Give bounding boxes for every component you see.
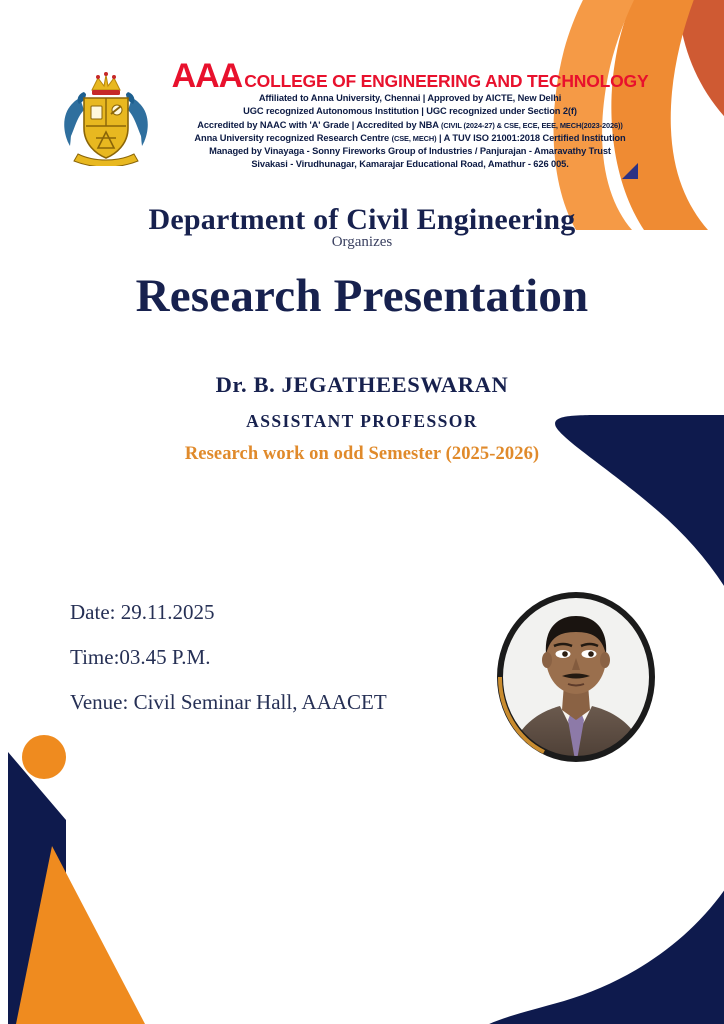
nba-main-text: Accredited by NAAC with 'A' Grade | Accr… xyxy=(197,120,438,130)
event-venue: Venue: Civil Seminar Hall, AAACET xyxy=(70,690,490,715)
managed-by-line: Managed by Vinayaga - Sonny Fireworks Gr… xyxy=(154,145,666,158)
research-centre-text-b: | A TUV ISO 21001:2018 Certified Institu… xyxy=(439,133,626,143)
research-centre-text-a: Anna University recognized Research Cent… xyxy=(194,133,389,143)
accreditation-line-2: UGC recognized Autonomous Institution | … xyxy=(154,105,666,118)
event-title: Research Presentation xyxy=(0,269,724,323)
event-date: Date: 29.11.2025 xyxy=(70,600,490,625)
bottom-left-decoration-group xyxy=(0,724,210,1024)
accreditation-line-nba: Accredited by NAAC with 'A' Grade | Accr… xyxy=(154,119,666,132)
speaker-designation: ASSISTANT PROFESSOR xyxy=(0,411,724,432)
college-abbrev: AAA xyxy=(172,60,243,92)
orange-triangle-bottom-left xyxy=(16,846,145,1024)
address-line: Sivakasi - Virudhunagar, Kamarajar Educa… xyxy=(154,158,666,171)
poster-header: AAA COLLEGE OF ENGINEERING AND TECHNOLOG… xyxy=(0,60,724,180)
college-title-line: AAA COLLEGE OF ENGINEERING AND TECHNOLOG… xyxy=(154,60,666,92)
orange-circle-accent xyxy=(22,735,66,779)
college-full-name: COLLEGE OF ENGINEERING AND TECHNOLOGY xyxy=(244,71,648,92)
department-title: Department of Civil Engineering xyxy=(0,203,724,237)
accreditation-line-research: Anna University recognized Research Cent… xyxy=(154,132,666,145)
event-details-block: Date: 29.11.2025 Time:03.45 P.M. Venue: … xyxy=(70,600,490,735)
aaa-college-crest-icon xyxy=(58,66,154,166)
speaker-name: Dr. B. JEGATHEESWARAN xyxy=(0,372,724,398)
organizes-label: Organizes xyxy=(0,234,724,251)
semester-note: Research work on odd Semester (2025-2026… xyxy=(0,444,724,465)
event-time: Time:03.45 P.M. xyxy=(70,645,490,670)
speaker-portrait-photo xyxy=(492,588,660,766)
navy-triangle-bottom-left xyxy=(8,752,66,1024)
nba-detail-text: (CIVIL (2024-27) & CSE, ECE, EEE, MECH(2… xyxy=(441,121,623,130)
header-text-block: AAA COLLEGE OF ENGINEERING AND TECHNOLOG… xyxy=(154,60,666,171)
event-poster: AAA COLLEGE OF ENGINEERING AND TECHNOLOG… xyxy=(0,0,724,1024)
research-centre-depts: (CSE, MECH) xyxy=(392,134,437,143)
